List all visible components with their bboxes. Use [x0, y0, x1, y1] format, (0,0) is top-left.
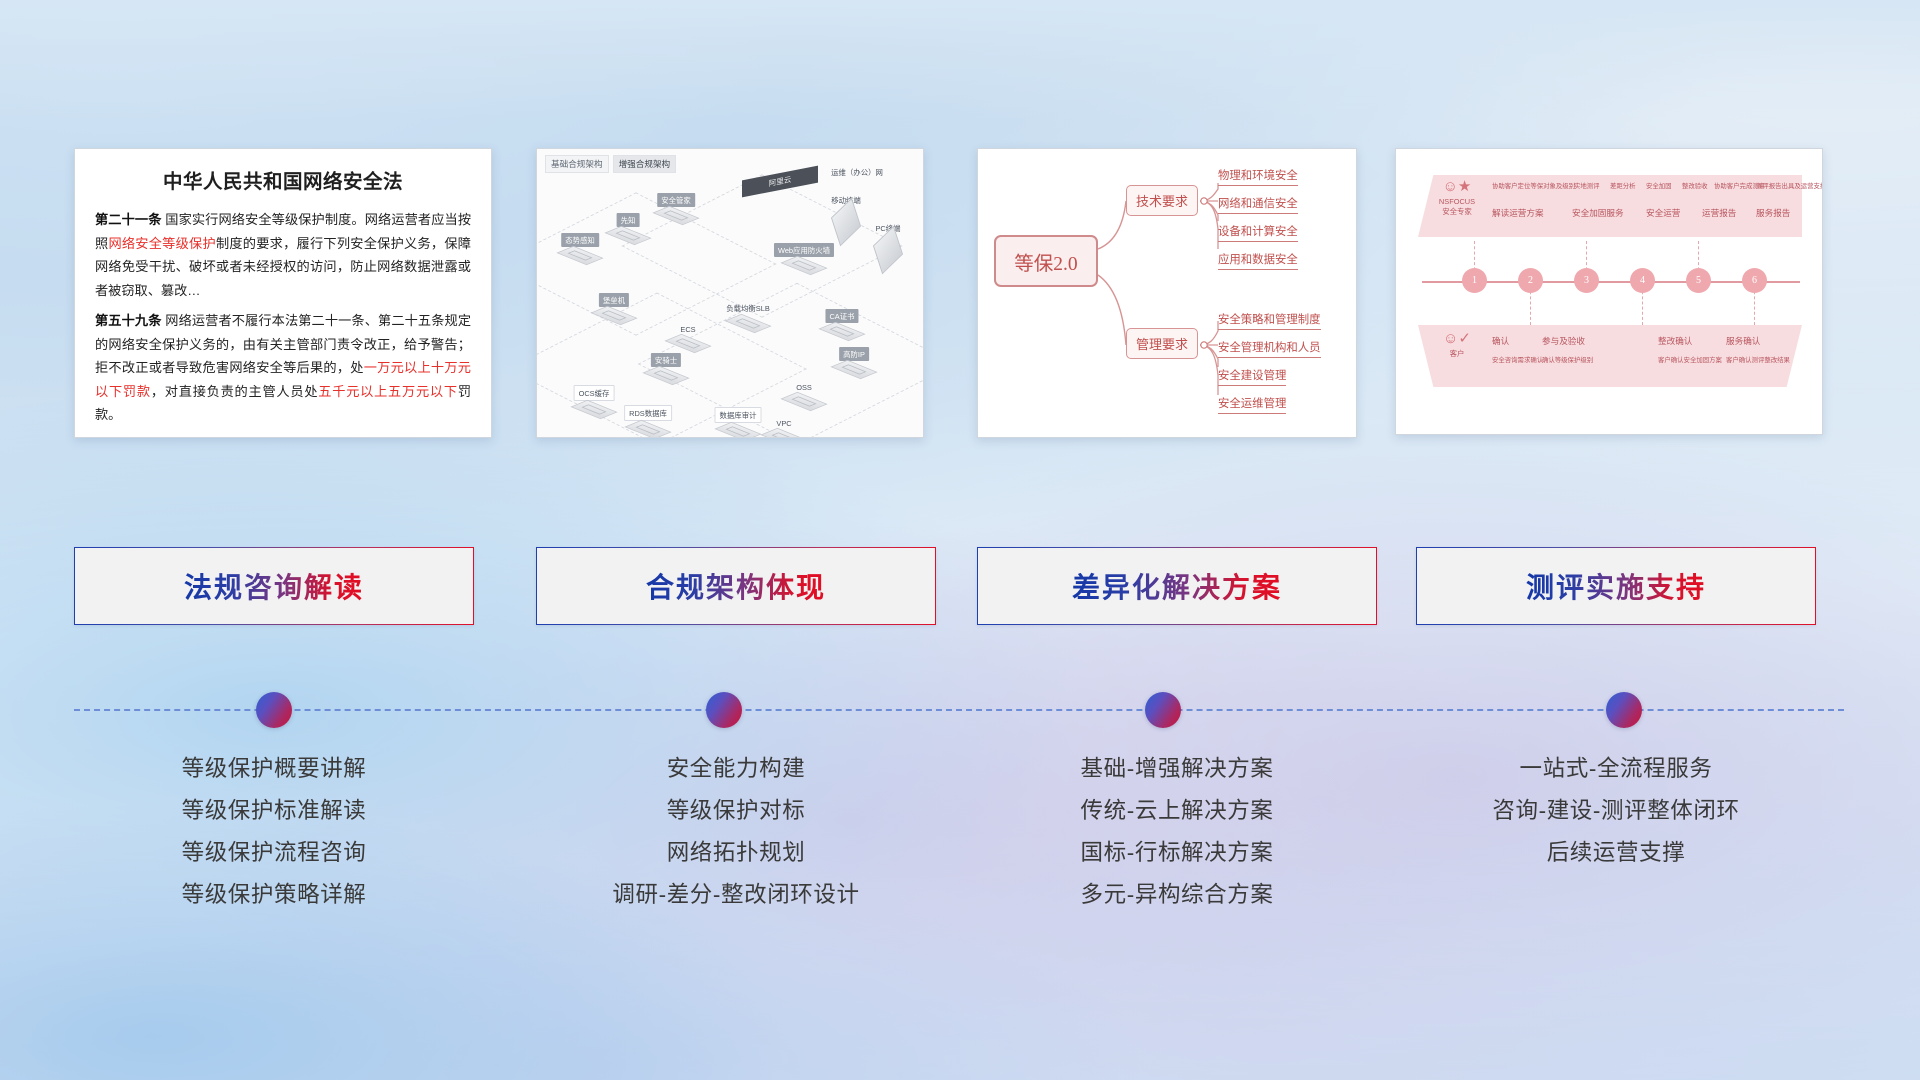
- person-check-icon: ☺✓: [1430, 331, 1484, 348]
- mindmap-leaf[interactable]: 安全策略和管理制度: [1218, 311, 1321, 330]
- service-top-sub: 安全运营: [1646, 207, 1680, 219]
- arch-node-label: 安骑士: [651, 353, 681, 367]
- thumbnail-dengbao-mindmap[interactable]: 等保2.0 技术要求 管理要求 物理和环境安全 网络和通信安全 设备和计算安全 …: [977, 148, 1357, 438]
- person-star-icon: ☺★: [1430, 179, 1484, 196]
- arch-node-label: 安全管家: [657, 193, 695, 207]
- mindmap-diagram: 等保2.0 技术要求 管理要求 物理和环境安全 网络和通信安全 设备和计算安全 …: [978, 149, 1356, 437]
- service-step-dot[interactable]: 4: [1630, 268, 1655, 293]
- law-text-run-highlight: 五千元以上五万元以下: [318, 384, 458, 399]
- thumbnail-service-flow[interactable]: ☺★ NSFOCUS 安全专家 ☺✓ 客户 协助客户定位等保对象及级别 实地测评…: [1395, 148, 1823, 435]
- service-top-header: 测评报告出具及运营支持建议: [1756, 181, 1823, 190]
- arch-node-waf[interactable]: Web应用防火墙: [789, 257, 819, 274]
- timeline: [0, 692, 1920, 728]
- service-top-header: 协助客户定位等保对象及级别: [1492, 181, 1575, 190]
- arch-node-label: 堡垒机: [599, 293, 629, 307]
- timeline-dashed-line: [74, 709, 1844, 711]
- bullet-item: 网络拓扑规划: [536, 832, 936, 874]
- expert-label-line1: NSFOCUS: [1430, 197, 1484, 207]
- bullet-column-differentiated-solution: 基础-增强解决方案 传统-云上解决方案 国标-行标解决方案 多元-异构综合方案: [977, 748, 1377, 915]
- service-step-dot[interactable]: 6: [1742, 268, 1767, 293]
- arch-node-label: OSS: [792, 381, 816, 393]
- mindmap-leaf[interactable]: 应用和数据安全: [1218, 251, 1298, 270]
- service-bottom-sub: 服务确认: [1726, 335, 1760, 347]
- mindmap-branch-technical[interactable]: 技术要求: [1126, 185, 1198, 216]
- server-box-icon: [714, 422, 761, 438]
- timeline-dot-1[interactable]: [256, 692, 292, 728]
- title-label: 差异化解决方案: [1072, 566, 1282, 606]
- bullet-column-regulation-consulting: 等级保护概要讲解 等级保护标准解读 等级保护流程咨询 等级保护策略详解: [74, 748, 474, 915]
- title-label: 合规架构体现: [646, 566, 826, 606]
- bullet-item: 传统-云上解决方案: [977, 790, 1377, 832]
- bullet-item: 后续运营支撑: [1416, 832, 1816, 874]
- bullet-item: 等级保护策略详解: [74, 874, 474, 916]
- arch-node-vpc[interactable]: VPC: [769, 429, 799, 438]
- law-article-number: 第二十一条: [95, 212, 162, 227]
- law-text-run: ，对直接负责的主管人员处: [151, 384, 318, 399]
- architecture-tab-strip: 基础合规架构 增强合规架构: [545, 155, 676, 173]
- arch-node-ca-cert[interactable]: CA证书: [827, 323, 857, 340]
- bullet-item: 多元-异构综合方案: [977, 874, 1377, 916]
- tab-enhanced-architecture[interactable]: 增强合规架构: [613, 155, 677, 173]
- bullet-item: 一站式-全流程服务: [1416, 748, 1816, 790]
- slide-canvas: 中华人民共和国网络安全法 第二十一条 国家实行网络安全等级保护制度。网络运营者应…: [0, 0, 1920, 1080]
- law-paragraph: 第二十一条 国家实行网络安全等级保护制度。网络运营者应当按照网络安全等级保护制度…: [95, 208, 471, 302]
- mindmap-root-node[interactable]: 等保2.0: [994, 235, 1098, 287]
- service-top-sub: 服务报告: [1756, 207, 1790, 219]
- arch-node-label: 运维（办公）网: [827, 165, 887, 179]
- service-step-dot[interactable]: 1: [1462, 268, 1487, 293]
- title-box-evaluation-support[interactable]: 测评实施支持: [1416, 547, 1816, 625]
- customer-label: 客户: [1430, 349, 1484, 359]
- service-top-header: 整改验收: [1682, 181, 1708, 190]
- mindmap-leaf[interactable]: 安全运维管理: [1218, 395, 1286, 414]
- arch-node-slb[interactable]: 负载均衡SLB: [733, 315, 763, 332]
- arch-node-label: CA证书: [825, 309, 858, 323]
- arch-node-mobile-terminal[interactable]: 移动终端: [833, 207, 859, 237]
- mindmap-leaf[interactable]: 物理和环境安全: [1218, 167, 1298, 186]
- background-top-fade: [0, 0, 1920, 120]
- arch-node-label: 态势感知: [561, 233, 599, 247]
- title-box-row: 法规咨询解读 合规架构体现 差异化解决方案 测评实施支持: [0, 547, 1920, 625]
- arch-node-label: OCS缓存: [574, 385, 615, 401]
- law-article-number: 第五十九条: [95, 313, 162, 328]
- tab-basic-architecture[interactable]: 基础合规架构: [545, 155, 609, 173]
- mindmap-branch-management[interactable]: 管理要求: [1126, 328, 1198, 359]
- arch-node-label: 数据库审计: [715, 407, 762, 423]
- service-top-sub: 运营报告: [1702, 207, 1736, 219]
- bullet-item: 咨询-建设-测评整体闭环: [1416, 790, 1816, 832]
- bullet-column-compliance-architecture: 安全能力构建 等级保护对标 网络拓扑规划 调研-差分-整改闭环设计: [536, 748, 936, 915]
- service-step-dot[interactable]: 5: [1686, 268, 1711, 293]
- expert-label-line2: 安全专家: [1430, 207, 1484, 217]
- arch-node-label: Web应用防火墙: [774, 243, 834, 257]
- arch-node-ocs-cache[interactable]: OCS缓存: [579, 401, 609, 418]
- service-bottom-sub: 确认: [1492, 335, 1509, 347]
- arch-node-xianzhi[interactable]: 先知: [613, 227, 643, 244]
- service-top-sub: 安全加固服务: [1572, 207, 1624, 219]
- service-bottom-sub: 整改确认: [1658, 335, 1692, 347]
- mindmap-leaf[interactable]: 设备和计算安全: [1218, 223, 1298, 242]
- arch-node-label: RDS数据库: [624, 405, 672, 421]
- mindmap-leaf[interactable]: 安全建设管理: [1218, 367, 1286, 386]
- arch-node-label: 高防IP: [839, 347, 869, 361]
- service-bottom-header: 客户确认测评整改结果: [1726, 355, 1790, 364]
- arch-node-aegis[interactable]: 安骑士: [651, 367, 681, 384]
- bullet-item: 安全能力构建: [536, 748, 936, 790]
- service-top-sub: 解读运营方案: [1492, 207, 1544, 219]
- mindmap-leaf[interactable]: 网络和通信安全: [1218, 195, 1298, 214]
- arch-node-db-audit[interactable]: 数据库审计: [723, 423, 753, 438]
- service-bottom-header: 安全咨询需求确认: [1492, 355, 1543, 364]
- bullet-item: 国标-行标解决方案: [977, 832, 1377, 874]
- bullet-item: 等级保护概要讲解: [74, 748, 474, 790]
- service-top-header: 差距分析: [1610, 181, 1636, 190]
- bullet-item: 等级保护标准解读: [74, 790, 474, 832]
- bullet-item: 等级保护对标: [536, 790, 936, 832]
- bullet-item: 等级保护流程咨询: [74, 832, 474, 874]
- title-box-compliance-architecture[interactable]: 合规架构体现: [536, 547, 936, 625]
- title-box-differentiated-solution[interactable]: 差异化解决方案: [977, 547, 1377, 625]
- arch-node-pc-terminal[interactable]: PC终端: [875, 235, 901, 265]
- service-top-header: 实地测评: [1574, 181, 1600, 190]
- service-bottom-header: 客户确认安全加固方案: [1658, 355, 1722, 364]
- arch-node-bastion-host[interactable]: 堡垒机: [599, 307, 629, 324]
- thumbnail-row: 中华人民共和国网络安全法 第二十一条 国家实行网络安全等级保护制度。网络运营者应…: [0, 148, 1920, 438]
- title-label: 法规咨询解读: [184, 566, 364, 606]
- service-top-header: 安全加固: [1646, 181, 1672, 190]
- service-step-dot[interactable]: 2: [1518, 268, 1543, 293]
- law-text-run-highlight: 网络安全等级保护: [108, 236, 216, 251]
- service-bottom-sub: 参与及验收: [1542, 335, 1585, 347]
- arch-node-oss[interactable]: OSS: [789, 393, 819, 410]
- timeline-dot-3[interactable]: [1145, 692, 1181, 728]
- service-flow-diagram: ☺★ NSFOCUS 安全专家 ☺✓ 客户 协助客户定位等保对象及级别 实地测评…: [1396, 149, 1822, 434]
- law-paragraph: 第五十九条 网络运营者不履行本法第二十一条、第二十五条规定的网络安全保护义务的，…: [95, 309, 471, 427]
- title-box-regulation-consulting[interactable]: 法规咨询解读: [74, 547, 474, 625]
- law-document-body: 中华人民共和国网络安全法 第二十一条 国家实行网络安全等级保护制度。网络运营者应…: [75, 149, 491, 437]
- law-document-title: 中华人民共和国网络安全法: [95, 165, 471, 194]
- customer-role-block: ☺✓ 客户: [1430, 331, 1484, 358]
- bullet-column-evaluation-support: 一站式-全流程服务 咨询-建设-测评整体闭环 后续运营支撑: [1416, 748, 1816, 874]
- service-bottom-header: 确认等级保护级别: [1542, 355, 1593, 364]
- service-step-dot[interactable]: 3: [1574, 268, 1599, 293]
- thumbnail-law-document[interactable]: 中华人民共和国网络安全法 第二十一条 国家实行网络安全等级保护制度。网络运营者应…: [74, 148, 492, 438]
- thumbnail-compliance-architecture[interactable]: 基础合规架构 增强合规架构 阿里云 态势感知 先知: [536, 148, 924, 438]
- bullet-item: 调研-差分-整改闭环设计: [536, 874, 936, 916]
- arch-node-rds[interactable]: RDS数据库: [633, 421, 663, 438]
- architecture-diagram: 基础合规架构 增强合规架构 阿里云 态势感知 先知: [537, 149, 923, 437]
- bullet-item: 基础-增强解决方案: [977, 748, 1377, 790]
- mindmap-leaf[interactable]: 安全管理机构和人员: [1218, 339, 1321, 358]
- arch-node-label: 先知: [617, 213, 640, 227]
- timeline-dot-4[interactable]: [1606, 692, 1642, 728]
- arch-node-label: 负载均衡SLB: [722, 301, 774, 315]
- arch-node-ecs[interactable]: ECS: [673, 335, 703, 352]
- timeline-dot-2[interactable]: [706, 692, 742, 728]
- title-label: 测评实施支持: [1526, 566, 1706, 606]
- arch-node-situational-awareness[interactable]: 态势感知: [565, 247, 595, 264]
- arch-node-security-butler[interactable]: 安全管家: [661, 207, 691, 224]
- expert-role-block: ☺★ NSFOCUS 安全专家: [1430, 179, 1484, 217]
- arch-node-anti-ddos[interactable]: 高防IP: [839, 361, 869, 378]
